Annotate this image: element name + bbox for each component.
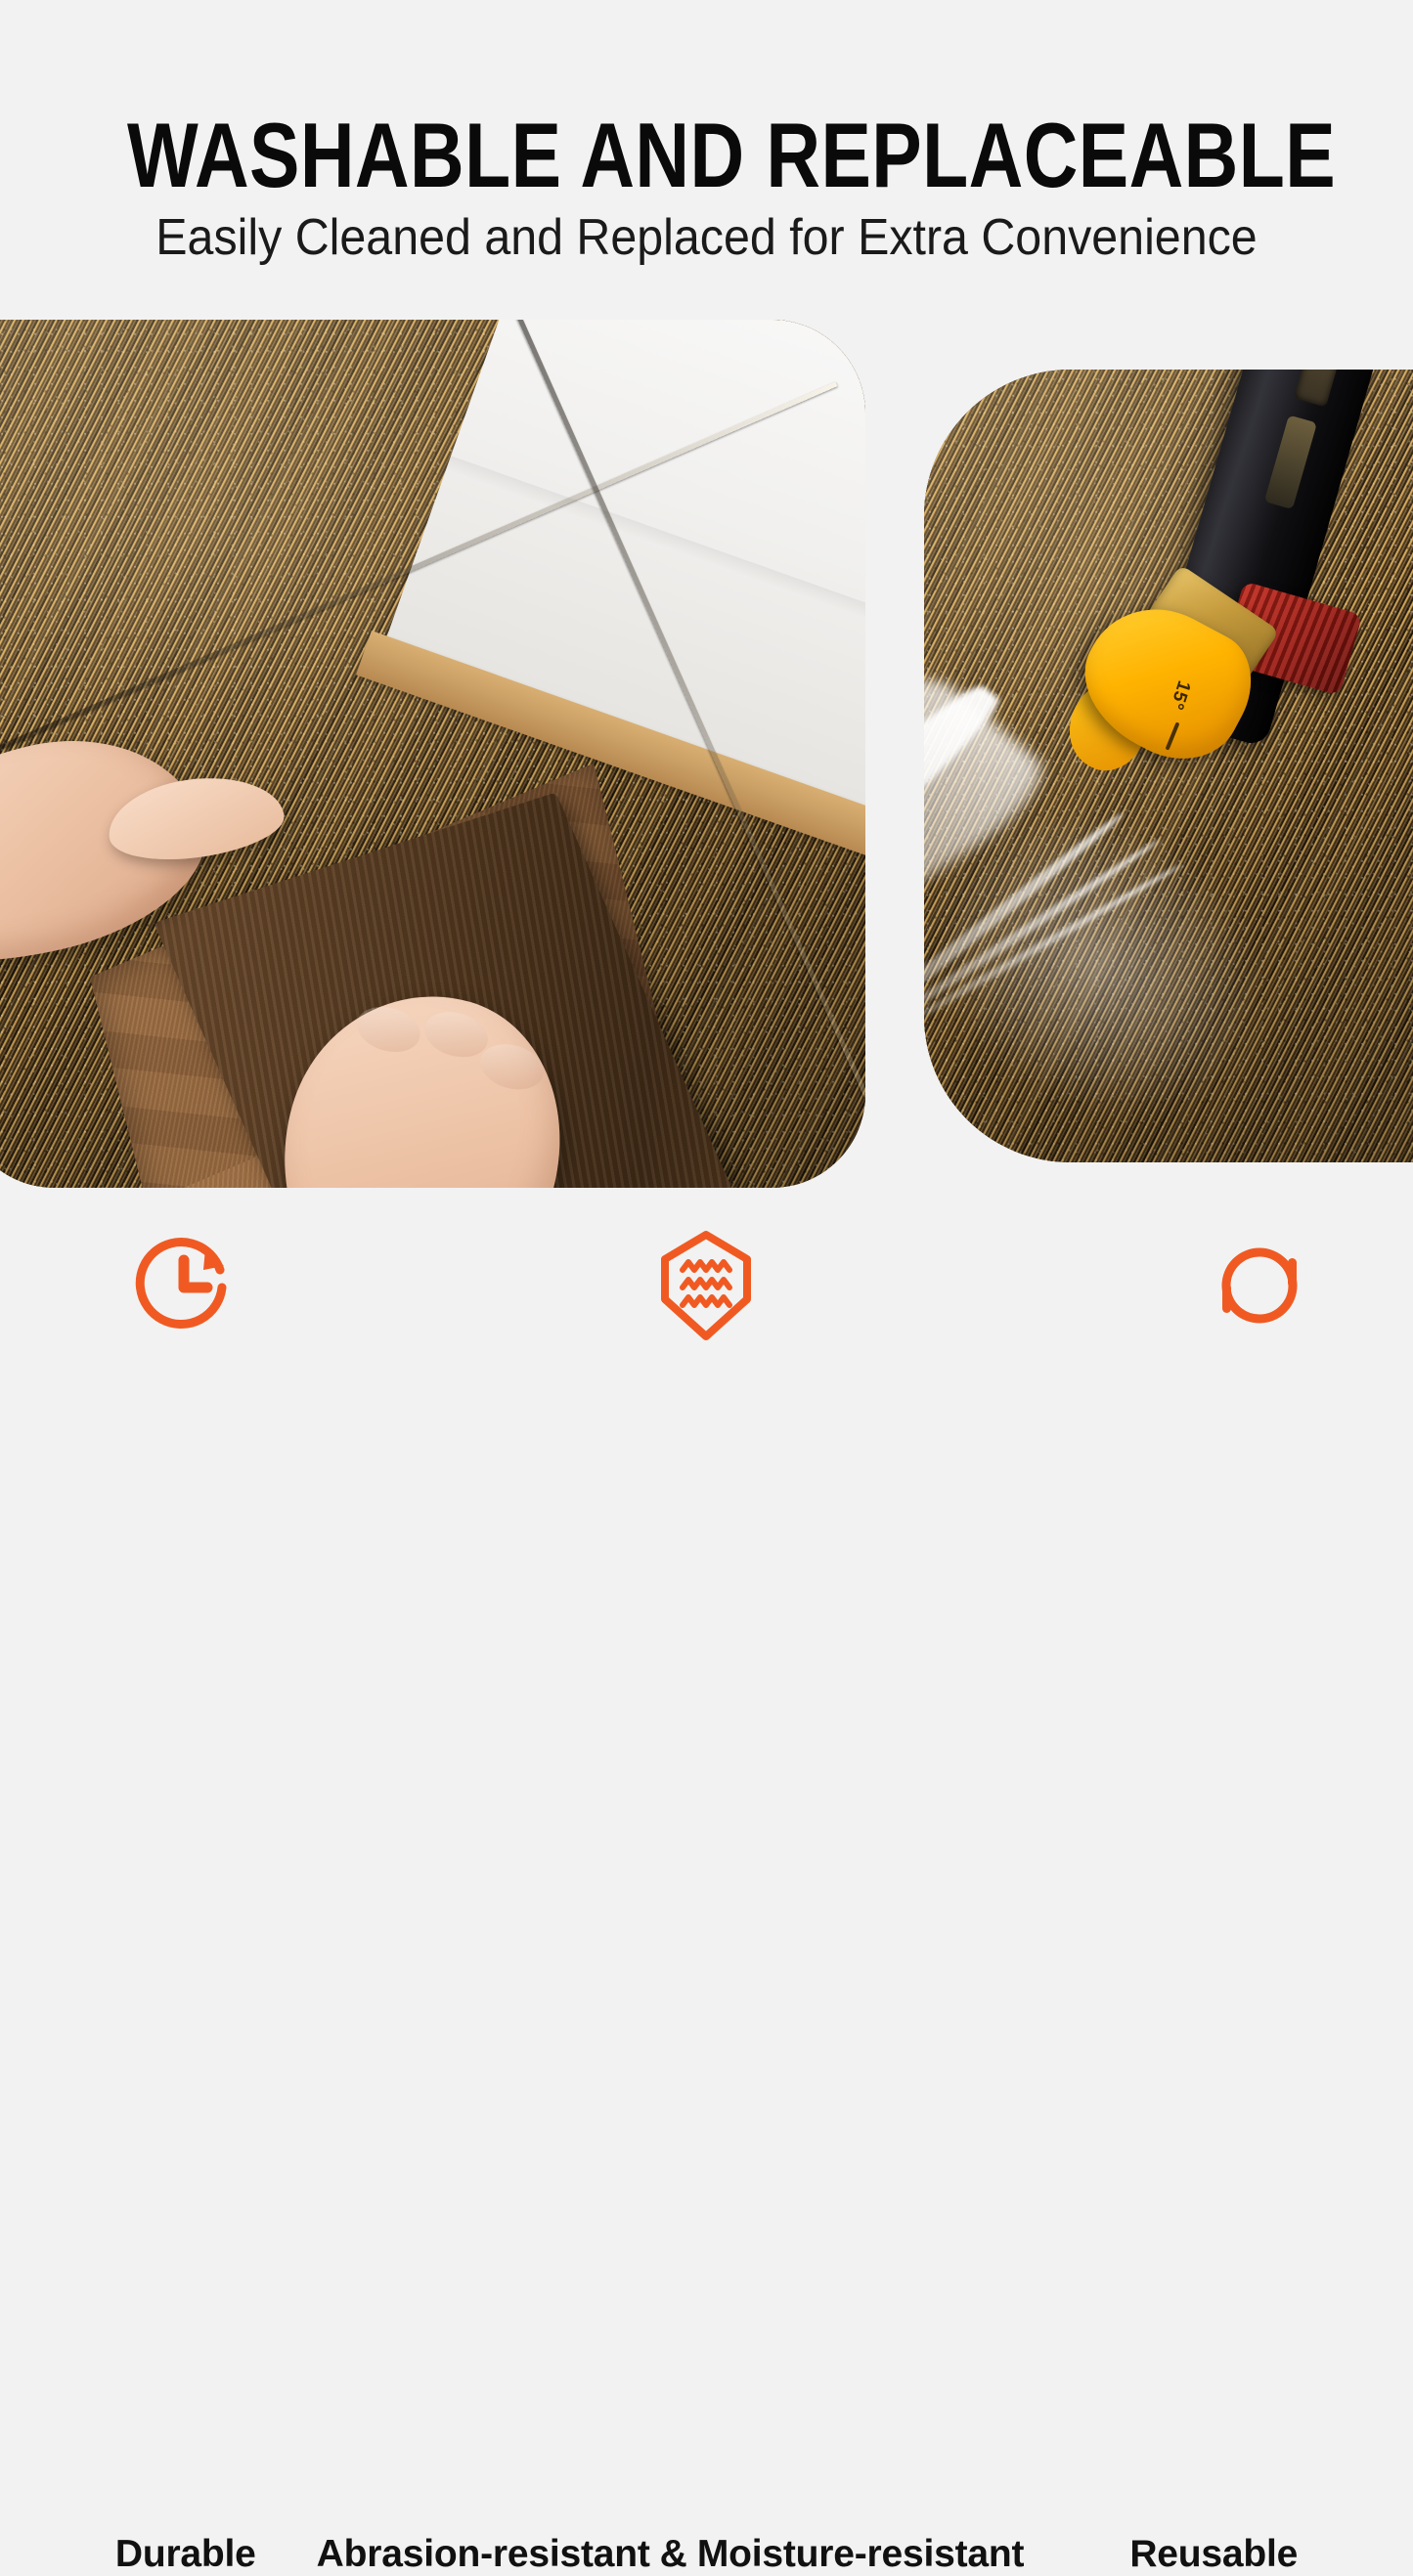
recycle-arrows-icon [1201,1227,1318,1344]
clock-arrow-icon [125,1227,243,1344]
feature-label-abrasion-resistant: Abrasion-resistant [317,2533,650,2576]
page-subtitle: Easily Cleaned and Replaced for Extra Co… [50,207,1364,268]
shield-waves-icon [647,1227,765,1344]
feature-label-reusable: Reusable [1129,2533,1298,2576]
feature-label-durable: Durable [115,2533,256,2576]
carpet-tile-washing-photo: 15° [924,370,1413,1162]
page-title: WASHABLE AND REPLACEABLE [127,109,1286,201]
wand-vent-slot [1264,415,1317,509]
feature-label-separator: & [660,2533,687,2576]
feature-icon-row [0,1227,1413,1344]
feature-bar: Durable Abrasion-resistant & Moisture-re… [0,1190,1413,1413]
product-photo-row: 15° [0,320,1413,1190]
wand-vent-slot [1294,370,1374,408]
feature-label-row: Durable Abrasion-resistant & Moisture-re… [0,2533,1413,2576]
carpet-tile-replacement-photo [0,320,865,1188]
header-banner: WASHABLE AND REPLACEABLE Easily Cleaned … [0,0,1413,320]
feature-label-moisture-resistant: Moisture-resistant [697,2533,1024,2576]
